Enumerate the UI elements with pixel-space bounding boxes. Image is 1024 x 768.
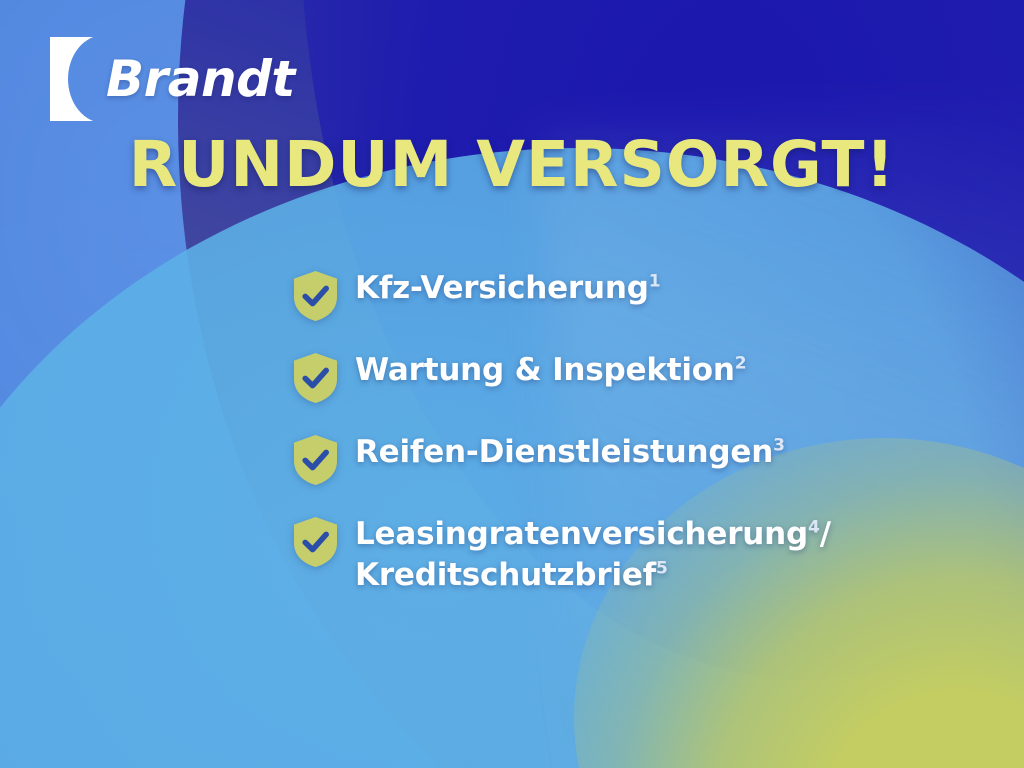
footnote-marker: 5 — [656, 559, 668, 579]
poster-content: Brandt RUNDUM VERSORGT! Kfz-Versicherung… — [0, 0, 1024, 768]
brand-name: Brandt — [106, 54, 295, 104]
shield-check-icon — [292, 516, 339, 568]
brandt-bracket-crescent-icon — [50, 37, 102, 121]
feature-label-text-line2: Kreditschutzbrief — [355, 557, 656, 593]
brand-logo[interactable]: Brandt — [50, 37, 295, 121]
shield-check-icon — [292, 270, 339, 322]
footnote-marker: 2 — [735, 354, 747, 374]
list-item-label: Kfz-Versicherung1 — [355, 268, 660, 309]
list-item: Reifen-Dienstleistungen3 — [292, 432, 932, 486]
footnote-marker: 4 — [808, 518, 820, 538]
promo-poster: Brandt RUNDUM VERSORGT! Kfz-Versicherung… — [0, 0, 1024, 768]
feature-label-separator: / — [820, 516, 831, 552]
shield-check-icon — [292, 352, 339, 404]
footnote-marker: 3 — [773, 436, 785, 456]
list-item: Kfz-Versicherung1 — [292, 268, 932, 322]
footnote-marker: 1 — [649, 272, 661, 292]
feature-list: Kfz-Versicherung1 Wartung & Inspektion2 … — [292, 268, 932, 596]
feature-label-text: Reifen-Dienstleistungen — [355, 434, 773, 470]
list-item: Leasingratenversicherung4/Kreditschutzbr… — [292, 514, 932, 596]
feature-label-text: Leasingratenversicherung — [355, 516, 808, 552]
list-item-label: Wartung & Inspektion2 — [355, 350, 746, 391]
feature-label-text: Kfz-Versicherung — [355, 270, 649, 306]
list-item: Wartung & Inspektion2 — [292, 350, 932, 404]
list-item-label: Reifen-Dienstleistungen3 — [355, 432, 785, 473]
list-item-label: Leasingratenversicherung4/Kreditschutzbr… — [355, 514, 831, 596]
feature-label-text: Wartung & Inspektion — [355, 352, 735, 388]
page-title: RUNDUM VERSORGT! — [0, 133, 1024, 196]
shield-check-icon — [292, 434, 339, 486]
